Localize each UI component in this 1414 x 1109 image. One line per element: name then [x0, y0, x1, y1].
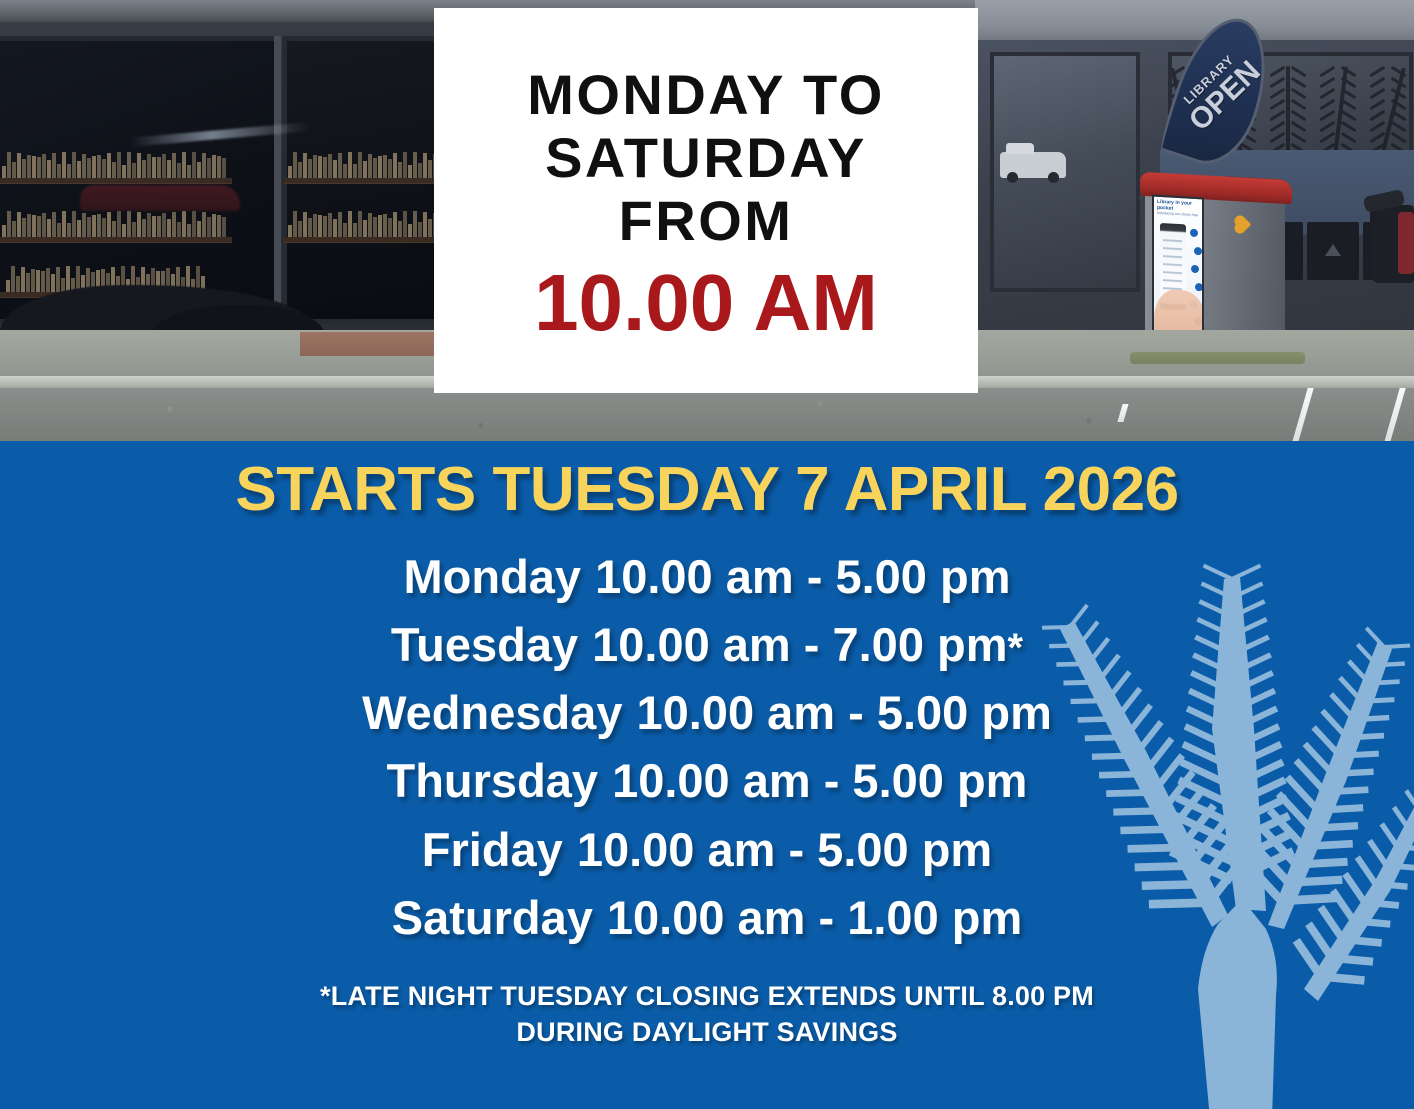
- hours-time: 10.00 am - 5.00 pm: [577, 823, 992, 876]
- hours-row: Friday10.00 am - 5.00 pm: [422, 816, 992, 884]
- hours-day: Tuesday: [391, 618, 578, 671]
- card-line-1: MONDAY TO: [527, 64, 885, 127]
- hours-list: Monday10.00 am - 5.00 pmTuesday10.00 am …: [362, 543, 1052, 952]
- red-object: [1398, 212, 1414, 274]
- bookshelf: [0, 237, 232, 242]
- books-row: [2, 211, 230, 237]
- hours-time: 10.00 am - 7.00 pm: [592, 618, 1007, 671]
- start-date-headline: STARTS TUESDAY 7 APRIL 2026: [235, 459, 1178, 521]
- hours-row: Thursday10.00 am - 5.00 pm: [387, 747, 1028, 815]
- window-mullion: [274, 36, 281, 334]
- late-night-note: *LATE NIGHT TUESDAY CLOSING EXTENDS UNTI…: [320, 978, 1094, 1051]
- hours-day: Friday: [422, 823, 563, 876]
- hours-day: Wednesday: [362, 686, 622, 739]
- hours-panel: STARTS TUESDAY 7 APRIL 2026 Monday10.00 …: [0, 441, 1414, 1109]
- hours-time: 10.00 am - 5.00 pm: [595, 550, 1010, 603]
- reflected-car: [80, 185, 240, 211]
- note-line-2: DURING DAYLIGHT SAVINGS: [320, 1014, 1094, 1050]
- opening-time: 10.00 AM: [534, 261, 878, 345]
- hours-day: Saturday: [392, 891, 593, 944]
- poster-subtitle: Introducing our Library App: [1157, 212, 1199, 218]
- hours-day: Thursday: [387, 754, 599, 807]
- hours-time: 10.00 am - 5.00 pm: [636, 686, 1051, 739]
- hours-time: 10.00 am - 5.00 pm: [612, 754, 1027, 807]
- hours-row: Tuesday10.00 am - 7.00 pm*: [391, 611, 1023, 679]
- card-line-2: SATURDAY: [545, 127, 867, 190]
- grass-verge: [1130, 352, 1305, 364]
- hours-row: Monday10.00 am - 5.00 pm: [404, 543, 1011, 611]
- opening-hours-poster: LIBRARY OPEN Library in your pocket Intr…: [0, 0, 1414, 1109]
- library-app-poster: Library in your pocket Introducing our L…: [1152, 195, 1204, 350]
- hours-time: 10.00 am - 1.00 pm: [607, 891, 1022, 944]
- headline-card: MONDAY TO SATURDAY FROM 10.00 AM: [434, 8, 978, 393]
- books-row: [2, 152, 230, 178]
- road: [0, 388, 1414, 441]
- hours-day: Monday: [404, 550, 582, 603]
- building-fascia-right: [975, 0, 1414, 44]
- hours-row: Saturday10.00 am - 1.00 pm: [392, 884, 1023, 952]
- reflected-pickup-truck: [1000, 152, 1066, 178]
- bookshelf: [0, 178, 232, 183]
- note-line-1: *LATE NIGHT TUESDAY CLOSING EXTENDS UNTI…: [320, 978, 1094, 1014]
- card-line-3: FROM: [619, 190, 794, 253]
- hours-asterisk: *: [1008, 626, 1024, 670]
- hours-row: Wednesday10.00 am - 5.00 pm: [362, 679, 1052, 747]
